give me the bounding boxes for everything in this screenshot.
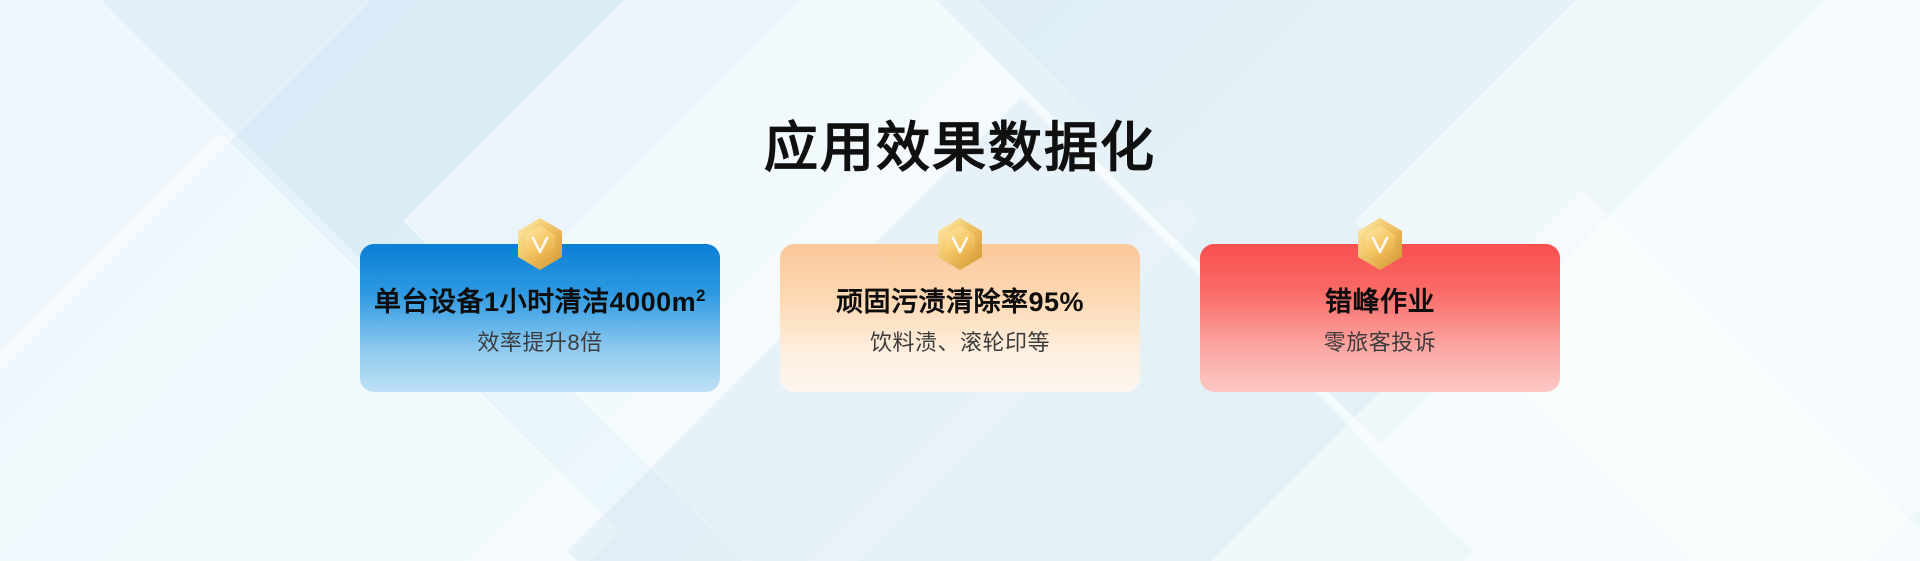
background-diamond (0, 0, 370, 370)
stat-card-headline-text: 单台设备1小时清洁4000m (374, 287, 696, 317)
stat-card-offpeak[interactable]: 错峰作业 零旅客投诉 (1200, 244, 1560, 392)
stat-card-headline-superscript: 2 (696, 286, 706, 305)
stat-card-headline: 单台设备1小时清洁4000m2 (374, 286, 706, 318)
stat-card-subtext: 效率提升8倍 (477, 330, 602, 356)
stat-card-headline: 顽固污渍清除率95% (836, 286, 1084, 318)
page-title: 应用效果数据化 (0, 117, 1920, 179)
gold-hexagon-check-badge-icon (513, 215, 567, 273)
hero-banner: 应用效果数据化 (0, 0, 1920, 561)
stat-card-efficiency[interactable]: 单台设备1小时清洁4000m2 效率提升8倍 (360, 244, 720, 392)
stat-card-headline-text: 错峰作业 (1325, 287, 1435, 317)
gold-hexagon-check-badge-icon (933, 215, 987, 273)
stat-card-headline-text: 顽固污渍清除率95% (836, 287, 1084, 317)
stat-card-subtext: 零旅客投诉 (1324, 330, 1437, 356)
gold-hexagon-check-badge-icon (1353, 215, 1407, 273)
stat-card-subtext: 饮料渍、滚轮印等 (870, 330, 1050, 356)
stat-card-stain-removal[interactable]: 顽固污渍清除率95% 饮料渍、滚轮印等 (780, 244, 1140, 392)
stat-card-headline: 错峰作业 (1325, 286, 1435, 318)
stat-card-list: 单台设备1小时清洁4000m2 效率提升8倍 (360, 244, 1560, 394)
